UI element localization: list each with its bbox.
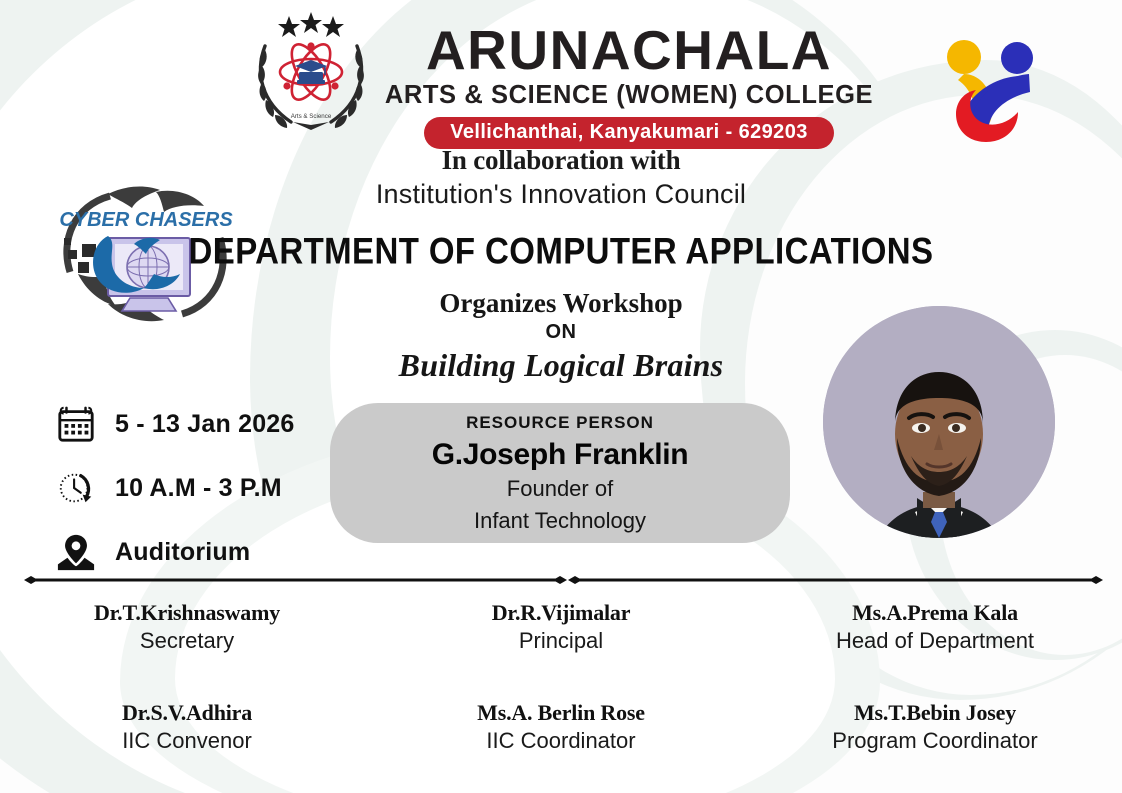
credit-principal: Dr.R.Vijimalar Principal: [374, 600, 748, 654]
location-pin-icon: [55, 531, 97, 573]
credit-role: Head of Department: [748, 628, 1122, 654]
credit-secretary: Dr.T.Krishnaswamy Secretary: [0, 600, 374, 654]
event-poster: Arts & Science ARUNACHALA ARTS & SCIENCE…: [0, 0, 1122, 793]
credits-section: Dr.T.Krishnaswamy Secretary Dr.R.Vijimal…: [0, 600, 1122, 754]
credit-role: Program Coordinator: [748, 728, 1122, 754]
college-emblem-icon: Arts & Science: [249, 10, 373, 134]
cyber-chasers-title: CYBER CHASERS: [59, 209, 233, 231]
credit-hod: Ms.A.Prema Kala Head of Department: [748, 600, 1122, 654]
resource-person-role-line2: Infant Technology: [474, 508, 646, 534]
college-subtitle: ARTS & SCIENCE (WOMEN) COLLEGE: [385, 81, 873, 110]
credit-role: Principal: [374, 628, 748, 654]
calendar-icon: [55, 403, 97, 445]
credit-role: IIC Convenor: [0, 728, 374, 754]
detail-text-time: 10 A.M - 3 P.M: [115, 474, 282, 503]
iic-logo-icon: [934, 30, 1044, 145]
resource-person-name: G.Joseph Franklin: [432, 438, 689, 472]
resource-person-role-line1: Founder of: [507, 476, 613, 502]
detail-row-date: 5 - 13 Jan 2026: [55, 403, 295, 445]
credit-role: IIC Coordinator: [374, 728, 748, 754]
detail-text-date: 5 - 13 Jan 2026: [115, 410, 295, 439]
credit-name: Ms.T.Bebin Josey: [748, 700, 1122, 726]
resource-person-box: RESOURCE PERSON G.Joseph Franklin Founde…: [330, 403, 790, 543]
college-name: ARUNACHALA: [426, 24, 832, 78]
credits-row-2: Dr.S.V.Adhira IIC Convenor Ms.A. Berlin …: [0, 700, 1122, 754]
collaboration-line2: Institution's Innovation Council: [0, 179, 1122, 210]
credit-name: Ms.A. Berlin Rose: [374, 700, 748, 726]
credit-iic-coordinator: Ms.A. Berlin Rose IIC Coordinator: [374, 700, 748, 754]
credit-name: Dr.T.Krishnaswamy: [0, 600, 374, 626]
credits-row-1: Dr.T.Krishnaswamy Secretary Dr.R.Vijimal…: [0, 600, 1122, 654]
event-details-list: 5 - 13 Jan 2026 10 A.M - 3 P.M: [55, 403, 295, 573]
clock-icon: [55, 467, 97, 509]
collaboration-line1: In collaboration with: [0, 145, 1122, 176]
detail-row-time: 10 A.M - 3 P.M: [55, 467, 295, 509]
credit-name: Dr.R.Vijimalar: [374, 600, 748, 626]
credit-name: Dr.S.V.Adhira: [0, 700, 374, 726]
resource-person-label: RESOURCE PERSON: [466, 413, 654, 433]
emblem-ring-text: Arts & Science: [291, 113, 332, 120]
collaboration-block: In collaboration with Institution's Inno…: [0, 145, 1122, 210]
detail-text-venue: Auditorium: [115, 538, 250, 567]
credit-program-coordinator: Ms.T.Bebin Josey Program Coordinator: [748, 700, 1122, 754]
department-title: DEPARTMENT OF COMPUTER APPLICATIONS: [0, 230, 1122, 273]
resource-person-photo: [823, 306, 1055, 538]
detail-row-venue: Auditorium: [55, 531, 295, 573]
credit-iic-convenor: Dr.S.V.Adhira IIC Convenor: [0, 700, 374, 754]
credit-name: Ms.A.Prema Kala: [748, 600, 1122, 626]
section-divider: [0, 572, 1122, 588]
credit-role: Secretary: [0, 628, 374, 654]
